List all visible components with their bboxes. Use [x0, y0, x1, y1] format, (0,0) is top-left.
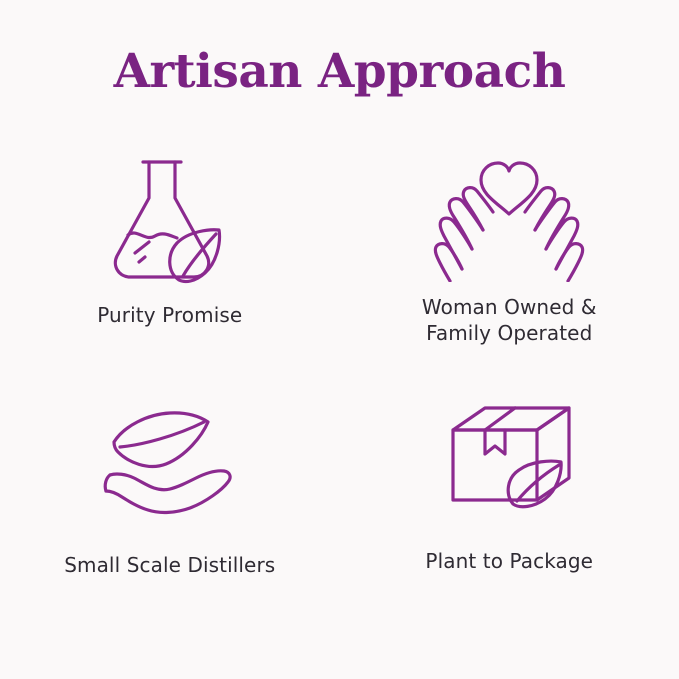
- package-box-with-leaf-icon: [429, 400, 589, 530]
- feature-label: Small Scale Distillers: [64, 552, 275, 578]
- flask-with-leaf-icon: [95, 150, 245, 290]
- feature-item-plant-to-package: Plant to Package: [340, 400, 679, 650]
- feature-label: Woman Owned & Family Operated: [422, 294, 597, 347]
- hands-holding-heart-icon: [419, 150, 599, 282]
- page-title: Artisan Approach: [0, 44, 679, 99]
- feature-label-line2: Family Operated: [426, 321, 592, 345]
- feature-label-line1: Woman Owned &: [422, 295, 597, 319]
- feature-label: Purity Promise: [97, 302, 242, 328]
- hand-holding-leaf-icon: [90, 400, 250, 530]
- feature-item-woman-owned: Woman Owned & Family Operated: [340, 150, 679, 400]
- feature-label: Plant to Package: [425, 548, 593, 574]
- artisan-approach-panel: Artisan Approach: [0, 0, 679, 679]
- features-grid: Purity Promise: [0, 150, 679, 650]
- feature-item-small-scale-distillers: Small Scale Distillers: [0, 400, 340, 650]
- feature-item-purity-promise: Purity Promise: [0, 150, 340, 400]
